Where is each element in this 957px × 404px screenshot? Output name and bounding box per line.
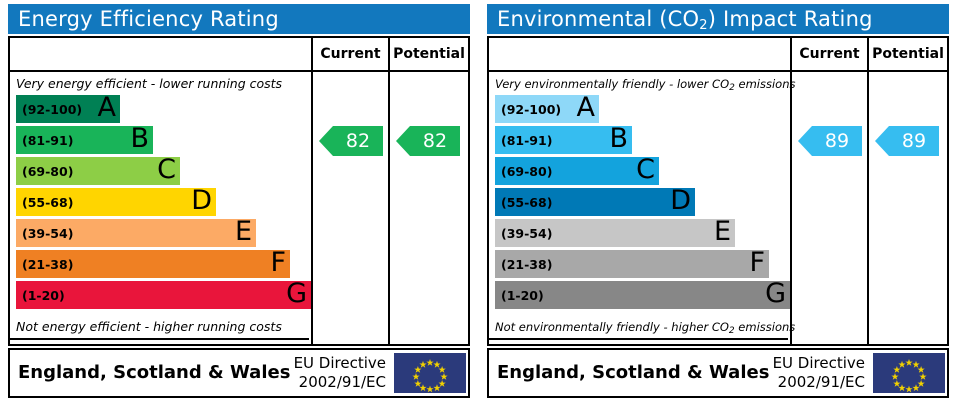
energy-band-list: (92-100) A (81-91) B (69-80) C (55-68) D…: [16, 95, 311, 315]
band-range-a: (92-100): [501, 102, 561, 117]
energy-chart-footer: England, Scotland & Wales EU Directive 2…: [8, 348, 470, 398]
co2-chart-header-row: Current Potential: [489, 38, 947, 72]
energy-caption-bottom: Not energy efficient - higher running co…: [10, 316, 309, 338]
co2-caption-bottom-suffix: emissions: [735, 320, 796, 334]
energy-caption-top: Very energy efficient - lower running co…: [10, 74, 309, 94]
band-row-e: (39-54) E: [495, 219, 735, 247]
energy-chart-header-row: Current Potential: [10, 38, 468, 72]
energy-efficiency-rating-chart: Energy Efficiency Rating Current Potenti…: [0, 0, 478, 404]
band-letter-e: E: [714, 218, 731, 248]
co2-header-current: Current: [792, 38, 867, 70]
band-letter-f: F: [749, 249, 765, 279]
co2-current-rating-value: 89: [825, 130, 849, 152]
band-range-c: (69-80): [22, 164, 73, 179]
band-letter-d: D: [191, 187, 212, 217]
energy-footer-directive-line2: 2002/91/EC: [286, 373, 386, 392]
co2-current-rating-arrow: 89: [798, 126, 862, 156]
energy-chart-title: Energy Efficiency Rating: [8, 4, 470, 34]
energy-potential-rating-value: 82: [423, 130, 447, 152]
band-row-d: (55-68) D: [16, 188, 216, 216]
co2-caption-top-subscript: 2: [729, 83, 735, 93]
band-range-a: (92-100): [22, 102, 82, 117]
energy-footer-region: England, Scotland & Wales: [18, 350, 290, 396]
eu-flag-icon: [394, 353, 466, 393]
co2-impact-rating-chart: Environmental (CO2) Impact Rating Curren…: [479, 0, 957, 404]
co2-footer-region: England, Scotland & Wales: [497, 350, 769, 396]
band-range-b: (81-91): [22, 133, 73, 148]
band-row-d: (55-68) D: [495, 188, 695, 216]
eu-flag-stars: [873, 353, 945, 393]
band-range-e: (39-54): [22, 226, 73, 241]
co2-chart-title: Environmental (CO2) Impact Rating: [487, 4, 949, 34]
band-row-f: (21-38) F: [495, 250, 769, 278]
band-letter-d: D: [670, 187, 691, 217]
band-range-d: (55-68): [501, 195, 552, 210]
co2-header-potential: Potential: [869, 38, 947, 70]
band-letter-f: F: [270, 249, 286, 279]
band-letter-g: G: [765, 280, 786, 310]
band-row-e: (39-54) E: [16, 219, 256, 247]
co2-caption-bottom-subscript: 2: [729, 326, 735, 336]
band-range-f: (21-38): [501, 257, 552, 272]
band-range-b: (81-91): [501, 133, 552, 148]
epc-certificate-page: Energy Efficiency Rating Current Potenti…: [0, 0, 957, 404]
band-row-f: (21-38) F: [16, 250, 290, 278]
co2-caption-top: Very environmentally friendly - lower CO…: [489, 74, 788, 94]
co2-chart-table: Current Potential Very environmentally f…: [487, 36, 949, 346]
co2-chart-title-subscript: 2: [699, 18, 707, 33]
band-row-a: (92-100) A: [16, 95, 120, 123]
band-letter-a: A: [98, 94, 116, 124]
band-range-g: (1-20): [22, 288, 65, 303]
band-row-g: (1-20) G: [16, 281, 311, 309]
co2-caption-top-prefix: Very environmentally friendly - lower CO: [495, 77, 729, 91]
co2-caption-top-suffix: emissions: [735, 77, 796, 91]
energy-header-potential: Potential: [390, 38, 468, 70]
eu-flag-icon: [873, 353, 945, 393]
band-row-c: (69-80) C: [16, 157, 180, 185]
band-row-b: (81-91) B: [16, 126, 153, 154]
co2-band-list: (92-100) A (81-91) B (69-80) C (55-68) D…: [495, 95, 790, 315]
band-row-b: (81-91) B: [495, 126, 632, 154]
energy-current-rating-value: 82: [346, 130, 370, 152]
co2-caption-divider: [489, 338, 788, 340]
energy-footer-directive: EU Directive 2002/91/EC: [286, 354, 386, 392]
co2-footer-directive-line2: 2002/91/EC: [765, 373, 865, 392]
co2-chart-title-suffix: ) Impact Rating: [708, 7, 873, 31]
band-letter-e: E: [235, 218, 252, 248]
column-separator-potential: [388, 38, 390, 344]
band-row-c: (69-80) C: [495, 157, 659, 185]
band-range-d: (55-68): [22, 195, 73, 210]
energy-current-rating-arrow: 82: [319, 126, 383, 156]
energy-caption-divider: [10, 338, 309, 340]
band-letter-c: C: [157, 156, 176, 186]
co2-potential-rating-value: 89: [902, 130, 926, 152]
energy-potential-rating-arrow: 82: [396, 126, 460, 156]
energy-header-current: Current: [313, 38, 388, 70]
co2-footer-directive-line1: EU Directive: [765, 354, 865, 373]
column-separator-current: [311, 38, 313, 344]
energy-footer-directive-line1: EU Directive: [286, 354, 386, 373]
band-range-f: (21-38): [22, 257, 73, 272]
energy-chart-table: Current Potential Very energy efficient …: [8, 36, 470, 346]
band-letter-a: A: [577, 94, 595, 124]
eu-flag-stars: [394, 353, 466, 393]
band-letter-g: G: [286, 280, 307, 310]
band-row-a: (92-100) A: [495, 95, 599, 123]
co2-potential-rating-arrow: 89: [875, 126, 939, 156]
band-range-e: (39-54): [501, 226, 552, 241]
band-range-g: (1-20): [501, 288, 544, 303]
band-letter-b: B: [609, 125, 628, 155]
co2-chart-title-prefix: Environmental (CO: [497, 7, 699, 31]
co2-caption-bottom: Not environmentally friendly - higher CO…: [489, 316, 788, 338]
band-range-c: (69-80): [501, 164, 552, 179]
band-row-g: (1-20) G: [495, 281, 790, 309]
co2-caption-bottom-prefix: Not environmentally friendly - higher CO: [495, 320, 729, 334]
band-letter-c: C: [636, 156, 655, 186]
band-letter-b: B: [130, 125, 149, 155]
co2-footer-directive: EU Directive 2002/91/EC: [765, 354, 865, 392]
column-separator-potential: [867, 38, 869, 344]
energy-chart-title-text: Energy Efficiency Rating: [18, 7, 279, 31]
co2-chart-footer: England, Scotland & Wales EU Directive 2…: [487, 348, 949, 398]
